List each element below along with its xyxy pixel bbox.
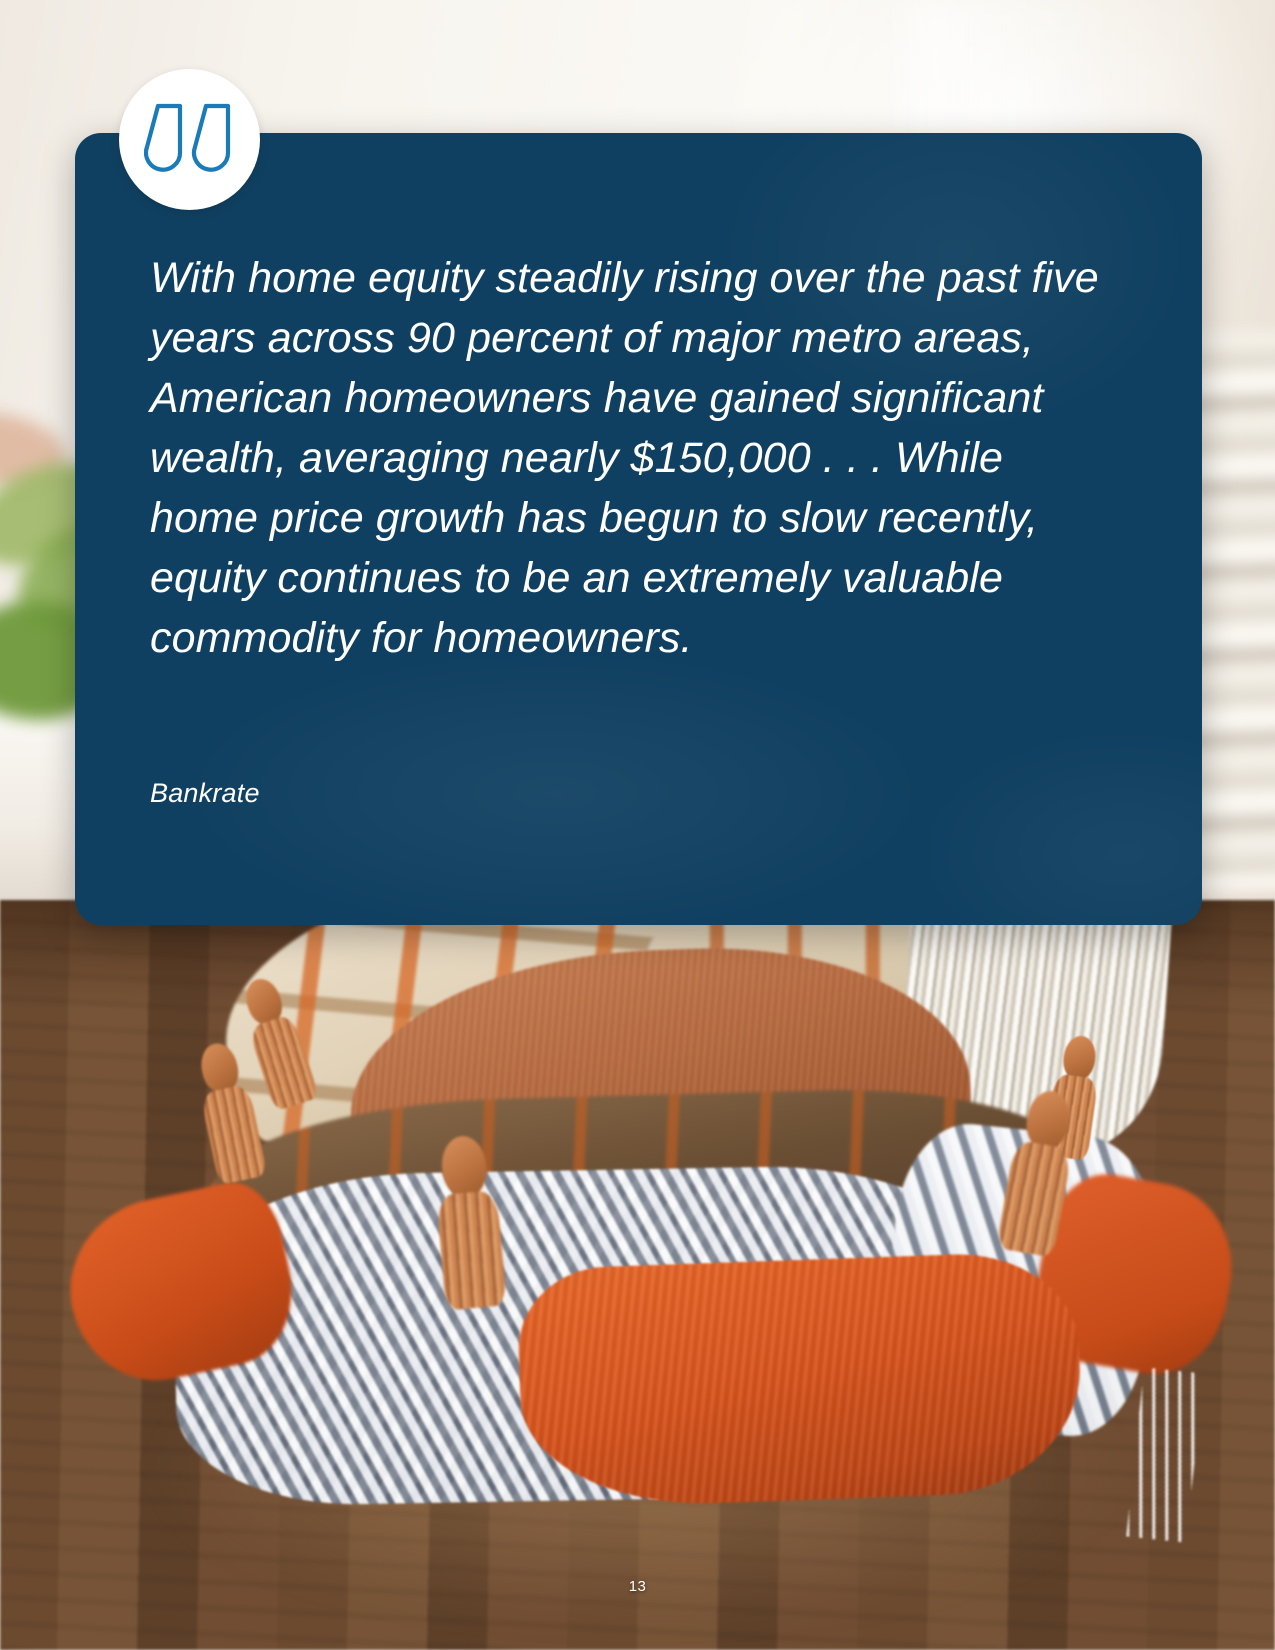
- quote-text: With home equity steadily rising over th…: [150, 248, 1100, 668]
- quote-source: Bankrate: [150, 778, 260, 809]
- page-canvas: With home equity steadily rising over th…: [0, 0, 1275, 1650]
- page-number: 13: [0, 1578, 1275, 1595]
- quote-badge: [119, 69, 260, 210]
- yarn-strands: [1126, 1367, 1203, 1542]
- quote-card: With home equity steadily rising over th…: [75, 133, 1202, 925]
- orange-pillow-front: [516, 1250, 1084, 1509]
- pillow-stack: [0, 840, 1275, 1540]
- quotation-mark-icon: [144, 103, 236, 177]
